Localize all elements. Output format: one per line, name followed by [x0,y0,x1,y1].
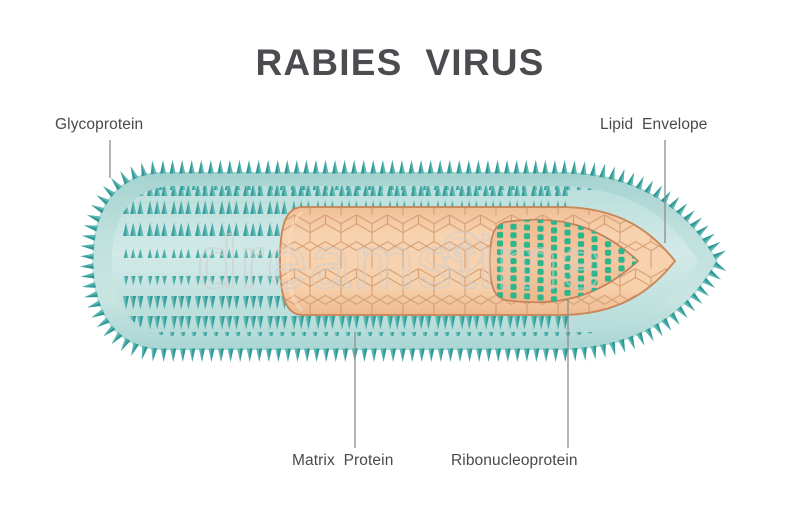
glycoprotein-spike [636,332,647,347]
ribonucleoprotein-bead [605,258,611,264]
glycoprotein-spike [314,349,320,363]
glycoprotein-spike [295,349,301,363]
glycoprotein-spike [599,164,608,178]
glycoprotein-spike [514,349,520,363]
glycoprotein-spike [266,349,272,363]
glycoprotein-spike [139,346,148,361]
glycoprotein-spike [409,349,415,363]
glycoprotein-spike [456,160,462,174]
glycoprotein-spike [228,349,234,363]
glycoprotein-spike [265,160,271,174]
glycoprotein-spike [485,160,491,174]
glycoprotein-spike [618,339,628,354]
glycoprotein-spike [580,161,587,175]
glycoprotein-spike [713,262,728,274]
glycoprotein-spike [561,160,567,174]
glycoprotein-spike [380,160,386,174]
glycoprotein-spike [161,348,167,362]
glycoprotein-spike [90,309,105,320]
glycoprotein-spike [627,336,637,351]
glycoprotein-spike [627,171,637,186]
glycoprotein-spike [138,162,147,177]
glycoprotein-spike [284,160,290,174]
glycoprotein-spike [118,170,130,185]
glycoprotein-spike [86,300,101,310]
glycoprotein-spike [208,349,214,363]
glycoprotein-spike [608,166,617,181]
glycoprotein-spike [400,349,406,363]
glycoprotein-spike [381,349,387,363]
glycoprotein-spike [702,278,716,291]
glycoprotein-spike [581,347,588,361]
ribonucleoprotein-bead [605,276,611,282]
glycoprotein-spike [294,160,300,174]
glycoprotein-spike [304,349,310,363]
glycoprotein-spike [333,349,339,363]
glycoprotein-spike [189,160,195,174]
glycoprotein-spike [80,273,94,280]
glycoprotein-spike [514,160,520,174]
glycoprotein-spike [80,243,94,250]
glycoprotein-spike [256,349,262,363]
glycoprotein-spike [322,160,328,174]
glycoprotein-spike [82,282,96,290]
glycoprotein-spike [419,349,425,363]
glycoprotein-spike [179,160,185,174]
glycoprotein-spike [170,349,176,363]
glycoprotein-spike [149,160,156,174]
glycoprotein-spike [571,160,578,174]
glycoprotein-spike [217,160,223,174]
glycoprotein-spike [81,233,95,241]
glycoprotein-spike [86,212,101,222]
glycoprotein-spike [467,349,473,363]
glycoprotein-spike [227,160,233,174]
glycoprotein-spike [303,160,309,174]
glycoprotein-spike [600,344,608,358]
glycoprotein-spike [83,222,98,231]
glycoprotein-spike [447,160,453,174]
glycoprotein-spike [399,160,405,174]
ribonucleoprotein-bead [618,248,624,254]
glycoprotein-spike [495,349,501,363]
glycoprotein-spike [437,160,443,174]
glycoprotein-spike [199,349,205,363]
glycoprotein-spike [90,202,105,213]
glycoprotein-spike [246,160,252,174]
glycoprotein-spike [332,160,338,174]
glycoprotein-spike [247,349,253,363]
glycoprotein-spike [313,160,319,174]
ribonucleoprotein-bead [605,241,611,247]
glycoprotein-spike [95,317,110,329]
glycoprotein-spike [389,160,395,174]
glycoprotein-spike [523,160,529,174]
glycoprotein-spike [653,323,665,338]
glycoprotein-spike [236,160,242,174]
glycoprotein-spike [342,160,348,174]
glycoprotein-spike [713,248,728,260]
glycoprotein-spike [323,349,329,363]
ribonucleoprotein-bead [618,265,624,271]
glycoprotein-spike [83,291,98,300]
glycoprotein-spike [208,160,214,174]
glycoprotein-spike [361,349,367,363]
glycoprotein-spike [80,263,94,269]
glycoprotein-spike [653,184,665,199]
glycoprotein-spike [708,239,723,251]
label-ribonucleoprotein: Ribonucleoprotein [451,452,578,470]
glycoprotein-spike [361,160,367,174]
glycoprotein-spike [475,160,481,174]
glycoprotein-spike [237,349,243,363]
glycoprotein-spike [645,328,656,343]
glycoprotein-spike [486,349,492,363]
glycoprotein-spike [160,160,166,174]
glycoprotein-spike [466,160,472,174]
glycoprotein-spike [418,160,424,174]
glycoprotein-spike [495,160,501,174]
glycoprotein-spike [189,349,195,363]
glycoprotein-spike [80,253,94,259]
glycoprotein-spike [669,312,682,326]
glycoprotein-spike [553,349,559,363]
ribonucleoprotein-bead [605,267,611,273]
ribonucleoprotein-bead [618,257,624,263]
glycoprotein-spike [371,349,377,363]
glycoprotein-spike [618,168,628,183]
glycoprotein-spike [636,175,647,190]
glycoprotein-spike [285,349,291,363]
glycoprotein-spike [505,349,511,363]
glycoprotein-spike [342,349,348,363]
glycoprotein-spike [661,318,673,333]
glycoprotein-spike [702,231,716,244]
glycoprotein-spike [542,160,548,174]
glycoprotein-spike [275,160,281,174]
glycoprotein-spike [552,160,558,174]
glycoprotein-spike [504,160,510,174]
watermark: dreamstime [197,221,604,304]
glycoprotein-spike [118,338,130,353]
glycoprotein-spike [275,349,281,363]
glycoprotein-spike [438,349,444,363]
glycoprotein-spike [590,346,598,360]
glycoprotein-spike [609,342,618,357]
glycoprotein-spike [409,160,415,174]
glycoprotein-spike [524,349,530,363]
glycoprotein-spike [128,342,139,357]
glycoprotein-spike [708,270,723,282]
glycoprotein-spike [95,193,110,205]
diagram-canvas: dreamstime RABIES VIRUS Glycoprotein Lip… [0,0,800,523]
glycoprotein-spike [533,160,539,174]
glycoprotein-spike [370,160,376,174]
glycoprotein-spike [170,160,176,174]
glycoprotein-spike [533,349,539,363]
glycoprotein-spike [256,160,262,174]
svg-text:dreamstime: dreamstime [197,221,604,304]
glycoprotein-spike [150,348,158,362]
glycoprotein-spike [218,349,224,363]
glycoprotein-spike [644,179,655,194]
glycoprotein-spike [428,349,434,363]
glycoprotein-spike [457,349,463,363]
label-matrix-protein: Matrix Protein [292,452,393,470]
glycoprotein-spike [198,160,204,174]
glycoprotein-spike [180,349,186,363]
glycoprotein-spike [128,165,139,180]
label-glycoprotein: Glycoprotein [55,116,143,134]
glycoprotein-spike [351,160,357,174]
glycoprotein-spike [428,160,434,174]
glycoprotein-spike [590,162,598,176]
glycoprotein-spike [572,348,579,362]
glycoprotein-spike [390,349,396,363]
glycoprotein-spike [543,349,549,363]
ribonucleoprotein-bead [605,250,611,256]
glycoprotein-spike [447,349,453,363]
glycoprotein-spike [476,349,482,363]
page-title: RABIES VIRUS [0,42,800,84]
glycoprotein-spike [661,189,674,204]
label-lipid-envelope: Lipid Envelope [600,116,708,134]
